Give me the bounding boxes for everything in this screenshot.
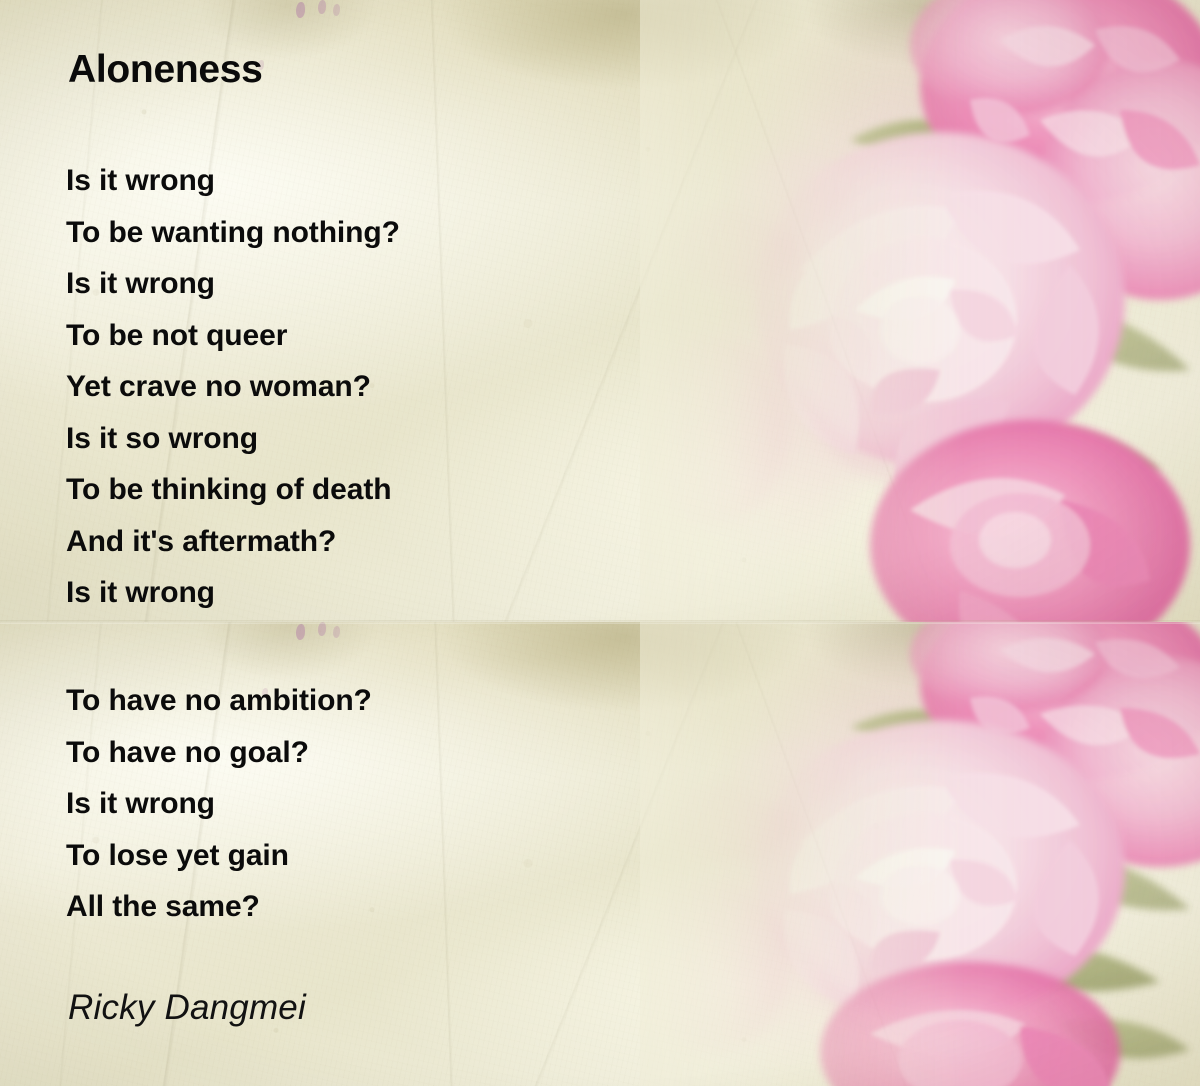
poem-stanza-2: To have no ambition? To have no goal? Is… <box>66 675 372 933</box>
floral-photo-bottom <box>640 622 1200 1086</box>
poem-author-signature: Ricky Dangmei <box>68 988 306 1028</box>
poem-line: To lose yet gain <box>66 830 372 882</box>
poem-title: Aloneness <box>68 48 263 92</box>
floral-photo-top <box>640 0 1200 622</box>
poem-image-card: Aloneness Is it wrong To be wanting noth… <box>0 0 1200 1086</box>
poem-line: Is it wrong <box>66 778 372 830</box>
poem-line: To be not queer <box>66 310 400 362</box>
poem-line: All the same? <box>66 881 372 933</box>
poem-line: To be wanting nothing? <box>66 207 400 259</box>
poem-line: Is it so wrong <box>66 413 400 465</box>
poem-line: Is it wrong <box>66 155 400 207</box>
poem-line: Is it wrong <box>66 567 400 619</box>
poem-stanza-1: Is it wrong To be wanting nothing? Is it… <box>66 155 400 619</box>
poem-line: To have no ambition? <box>66 675 372 727</box>
poem-line: To have no goal? <box>66 727 372 779</box>
poem-line: Yet crave no woman? <box>66 361 400 413</box>
poem-line: Is it wrong <box>66 258 400 310</box>
poem-line: To be thinking of death <box>66 464 400 516</box>
poem-line: And it's aftermath? <box>66 516 400 568</box>
